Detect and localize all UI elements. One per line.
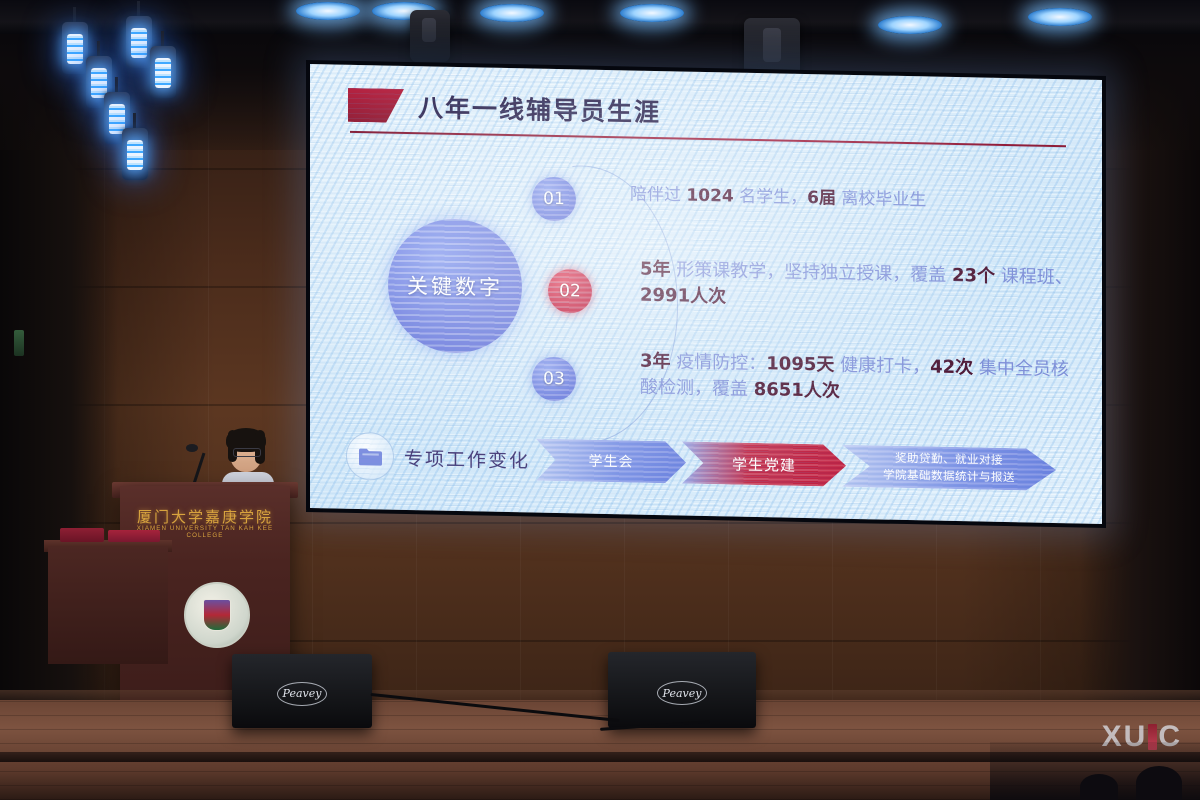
highlight-number: 42次 [930, 356, 973, 378]
title-divider [350, 131, 1066, 147]
moving-head-light-2 [410, 10, 450, 62]
stage-monitor-1: Peavey [232, 654, 372, 728]
auditorium-photo: 八年一线辅导员生涯 关键数字 01 02 03 陪伴过 1024 名学生，6届 … [0, 0, 1200, 800]
point-text-03: 3年 疫情防控：1095天 健康打卡，42次 集中全员核酸检测，覆盖 8651人… [640, 349, 1076, 409]
university-crest [184, 582, 250, 648]
highlight-number: 5年 [640, 259, 671, 281]
projection-screen: 八年一线辅导员生涯 关键数字 01 02 03 陪伴过 1024 名学生，6届 … [306, 60, 1106, 528]
title-accent-shape [348, 88, 404, 123]
stage-monitor-2: Peavey [608, 652, 756, 728]
folder-icon [346, 432, 394, 481]
point-badge-01: 01 [532, 177, 576, 222]
audience-head-1 [1136, 766, 1182, 800]
body-text: 课程班、 [995, 266, 1073, 289]
stage-light-ring-3 [480, 4, 544, 22]
highlight-number: 3年 [640, 351, 671, 373]
process-row: 专项工作变化 学生会 学生党建 奖助贷勤、就业对接学院基础数据统计与报送 [346, 431, 1070, 496]
process-step-1: 学生会 [536, 439, 686, 484]
point-badge-02: 02 [548, 269, 592, 314]
highlight-number: 23个 [952, 265, 995, 287]
audience-foreground [990, 742, 1200, 800]
key-numbers-circle: 关键数字 [388, 218, 522, 355]
process-section-label: 专项工作变化 [404, 443, 530, 473]
point-text-02: 5年 形策课教学，坚持独立授课，覆盖 23个 课程班、2991人次 [640, 257, 1074, 317]
monitor-brand-logo-2: Peavey [657, 681, 707, 705]
stage-light-ring-1 [296, 2, 360, 20]
red-cloth-item-2 [108, 530, 160, 542]
body-text: 健康打卡， [834, 355, 930, 378]
side-table [48, 546, 168, 664]
point-text-01: 陪伴过 1024 名学生，6届 离校毕业生 [630, 182, 1070, 215]
audience-head-2 [1080, 774, 1118, 800]
page-title: 八年一线辅导员生涯 [418, 88, 661, 129]
stage-light-ring-6 [1028, 8, 1092, 26]
body-text: 名学生， [734, 187, 807, 208]
highlight-number: 2991人次 [640, 284, 726, 307]
process-step-2: 学生党建 [682, 442, 846, 487]
body-text: 离校毕业生 [836, 189, 926, 211]
red-cloth-item-1 [60, 528, 104, 542]
highlight-number: 6届 [807, 188, 836, 209]
process-step-3: 奖助贷勤、就业对接学院基础数据统计与报送 [842, 445, 1056, 491]
podium-name-cn: 厦门大学嘉庚学院 [120, 506, 290, 527]
stage-light-ring-5 [878, 16, 942, 34]
stage-light-ring-4 [620, 4, 684, 22]
body-text: 疫情防控： [671, 351, 767, 374]
highlight-number: 1095天 [766, 353, 834, 375]
slide-title-row: 八年一线辅导员生涯 [348, 87, 661, 129]
body-text: 形策课教学，坚持独立授课，覆盖 [671, 259, 952, 286]
crest-shield [203, 599, 231, 631]
lighting-truss [0, 0, 1200, 34]
key-numbers-label: 关键数字 [407, 270, 503, 302]
monitor-brand-logo-1: Peavey [277, 682, 327, 706]
highlight-number: 8651人次 [754, 379, 840, 402]
exit-sign [14, 330, 24, 356]
body-text: 陪伴过 [630, 184, 686, 205]
point-badge-03: 03 [532, 357, 576, 402]
highlight-number: 1024 [686, 186, 733, 207]
microphone-head [186, 444, 198, 452]
presentation-slide: 八年一线辅导员生涯 关键数字 01 02 03 陪伴过 1024 名学生，6届 … [310, 64, 1102, 524]
